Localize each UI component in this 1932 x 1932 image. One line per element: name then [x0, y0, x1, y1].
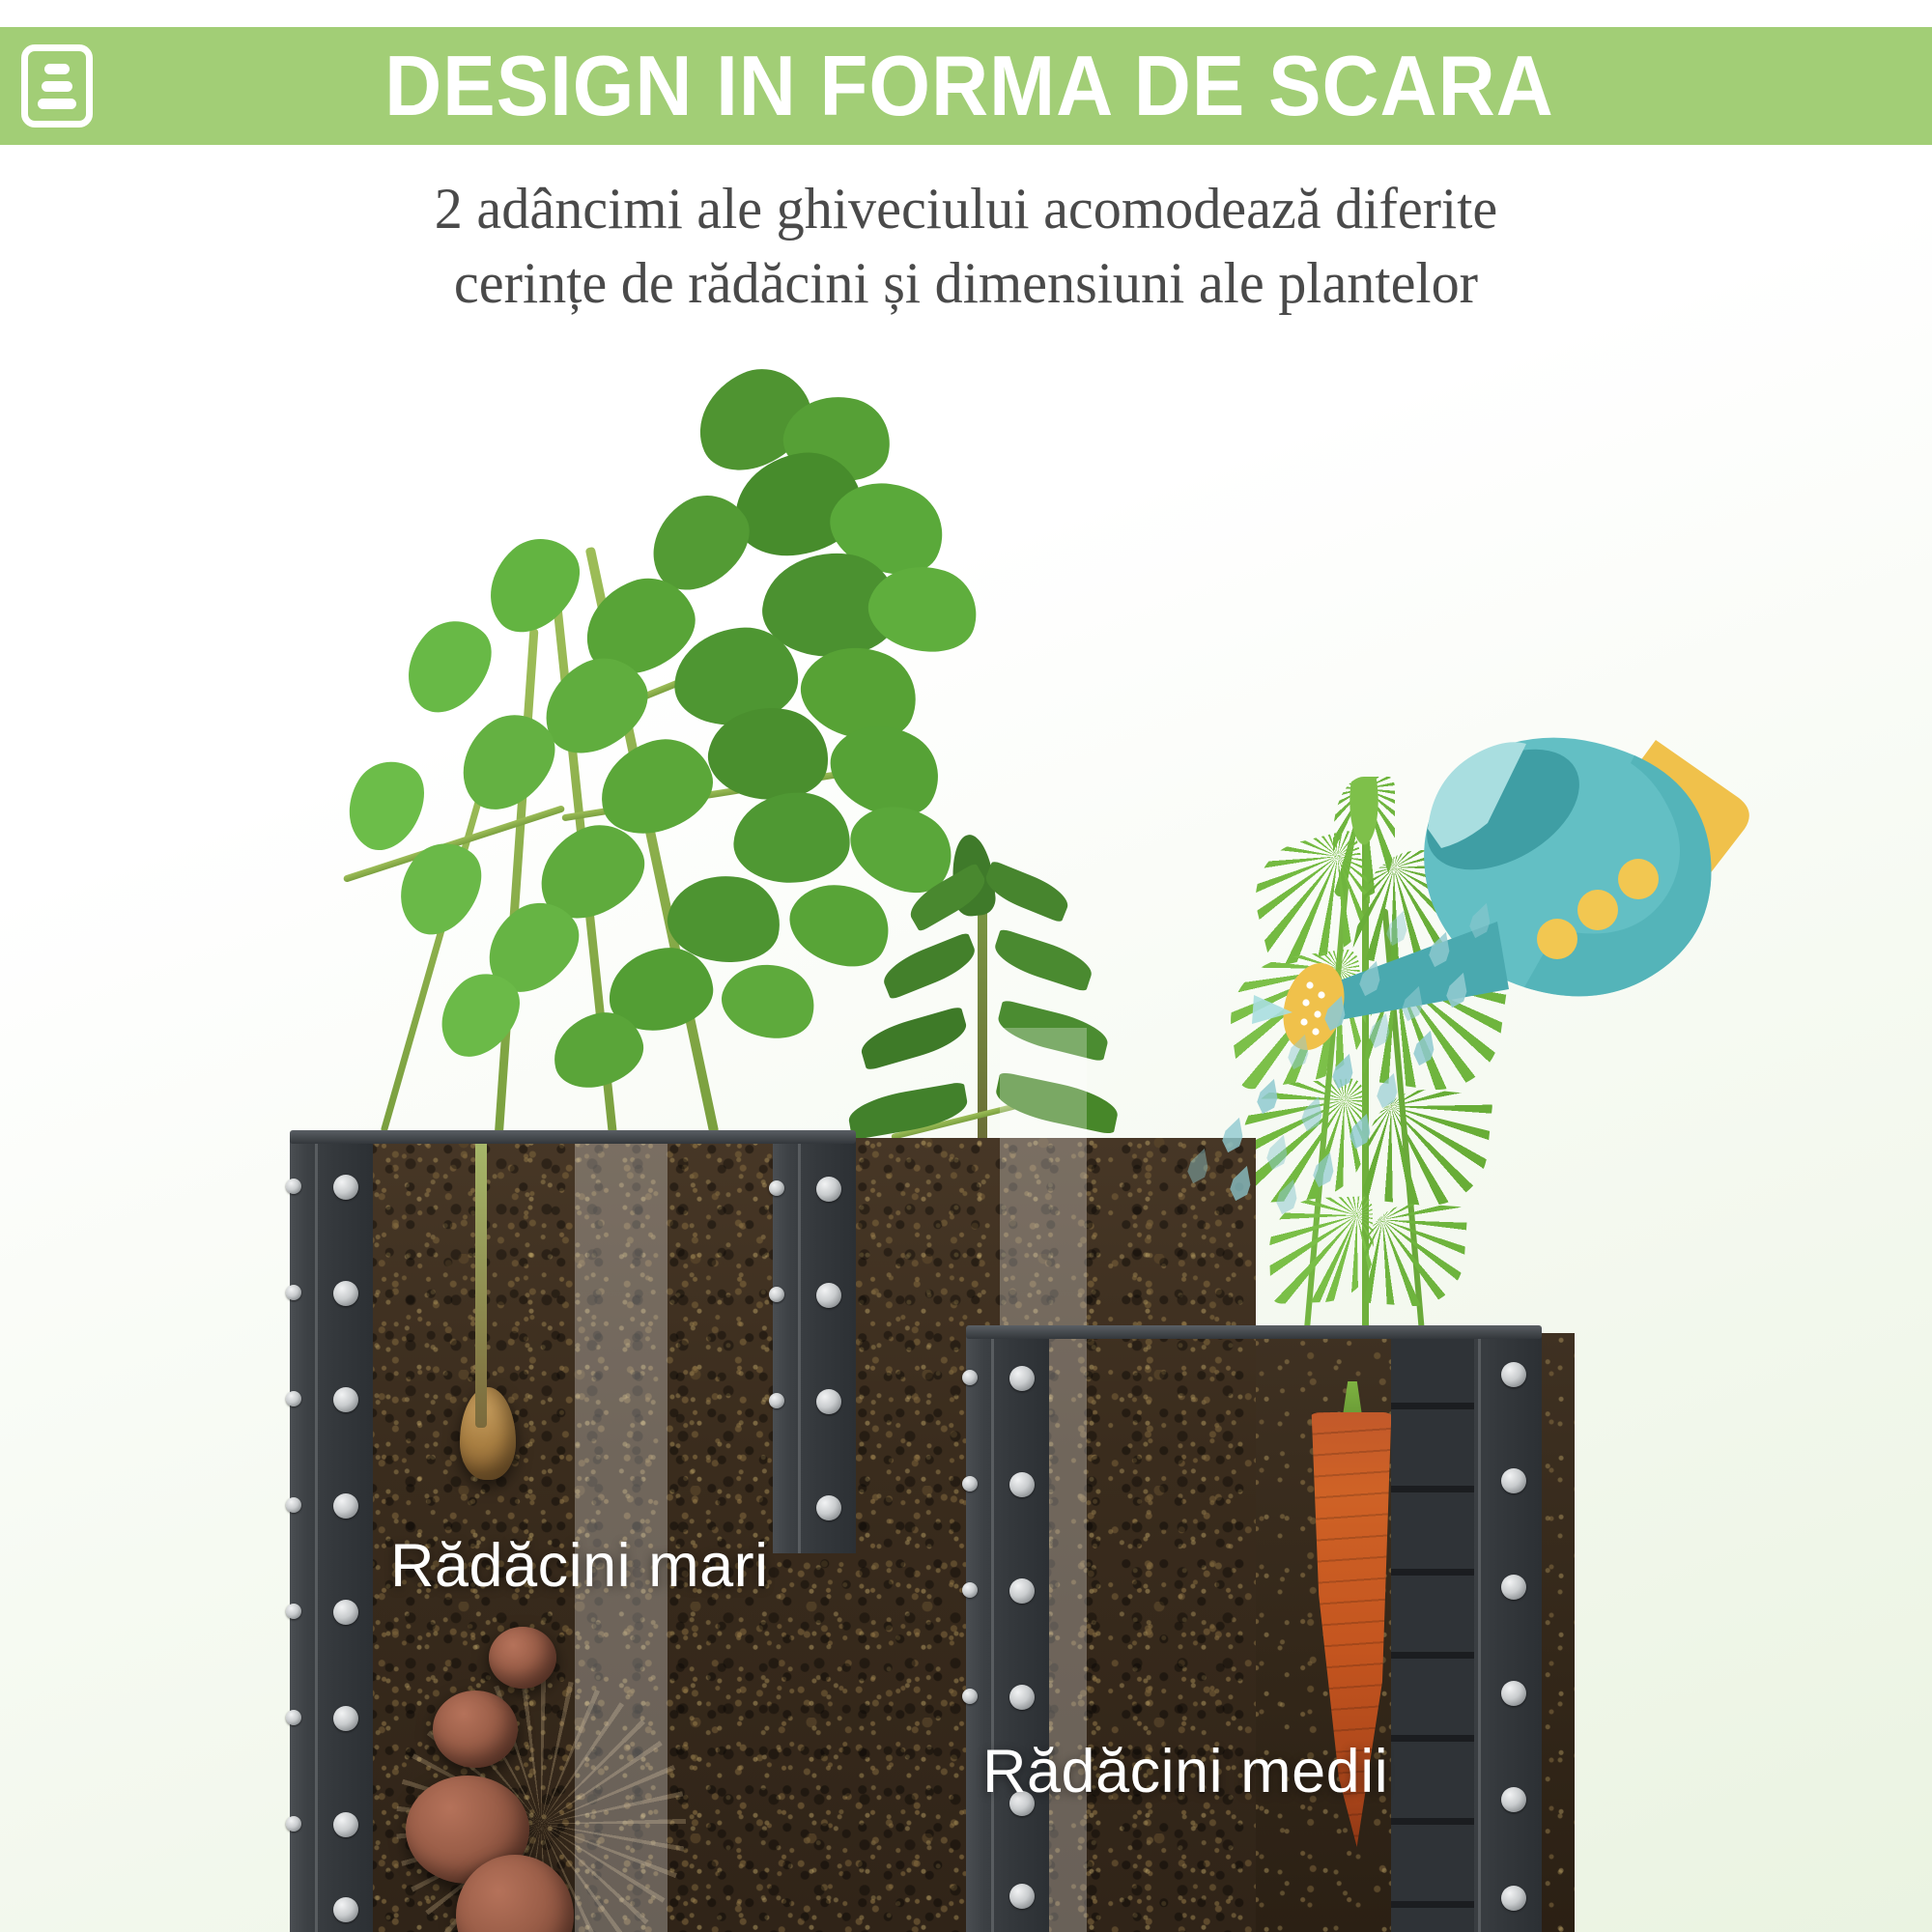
water-drop	[1282, 1031, 1317, 1073]
plant-leaf	[331, 748, 440, 863]
plant-leaf	[878, 932, 980, 1001]
buried-stem	[475, 1138, 487, 1428]
label-medium-roots: Rădăcini medii	[982, 1737, 1388, 1806]
water-drop	[1353, 957, 1388, 1000]
page-title: DESIGN IN FORMA DE SCARA	[157, 43, 1868, 128]
plant-leaf	[994, 1000, 1112, 1063]
potato-tuber	[489, 1627, 556, 1689]
water-drop	[1440, 969, 1475, 1011]
subtitle: 2 adâncimi ale ghiveciului acomodează di…	[0, 172, 1932, 321]
plant-leaf	[469, 522, 597, 648]
potato-tuber	[433, 1690, 518, 1768]
product-scene: Rădăcini mari Rădăcini medii	[0, 319, 1932, 1932]
subtitle-line-2: cerințe de rădăcini și dimensiuni ale pl…	[29, 246, 1903, 321]
water-drop	[1261, 1131, 1295, 1174]
water-drop	[1326, 1050, 1361, 1093]
header-band: DESIGN IN FORMA DE SCARA	[0, 27, 1932, 145]
water-drop	[1319, 992, 1353, 1035]
water-drop	[1371, 1069, 1406, 1112]
corner-post-left	[290, 1138, 373, 1932]
plant-leaf	[857, 1006, 971, 1070]
water-drop	[1344, 1110, 1378, 1152]
plant-leaf	[381, 827, 498, 948]
water-drop	[1181, 1145, 1216, 1187]
plant-leaf	[713, 951, 825, 1051]
plant-leaf	[980, 860, 1073, 923]
plant-stem	[495, 628, 539, 1139]
water-drop	[1295, 1093, 1330, 1135]
water-drop	[1423, 928, 1458, 971]
water-drop	[1251, 1075, 1286, 1118]
water-drop	[1407, 1027, 1442, 1069]
water-drop	[1307, 1149, 1342, 1191]
infographic-stage: DESIGN IN FORMA DE SCARA 2 adâncimi ale …	[0, 0, 1932, 1932]
planter-rim-tall	[290, 1130, 856, 1144]
corner-post-tall-right	[773, 1138, 856, 1553]
layered-list-icon	[21, 44, 93, 128]
plant-leaf	[992, 1071, 1122, 1135]
water-drops	[1169, 889, 1575, 1198]
water-drop	[1380, 907, 1415, 950]
subtitle-line-1: 2 adâncimi ale ghiveciului acomodează di…	[29, 172, 1903, 246]
label-large-roots: Rădăcini mari	[390, 1531, 769, 1601]
panel-ribs	[1391, 1333, 1474, 1932]
planter-rim-short	[966, 1325, 1542, 1339]
corner-post-middle	[966, 1333, 1049, 1932]
carrot-frond	[1360, 1201, 1467, 1310]
potato-plant	[193, 338, 908, 1150]
water-drop	[1396, 982, 1431, 1025]
water-drop	[1363, 1009, 1398, 1052]
plant-leaf	[990, 928, 1096, 992]
water-drop	[1463, 899, 1498, 942]
water-drop	[1216, 1114, 1251, 1156]
plant-leaf	[388, 605, 509, 727]
